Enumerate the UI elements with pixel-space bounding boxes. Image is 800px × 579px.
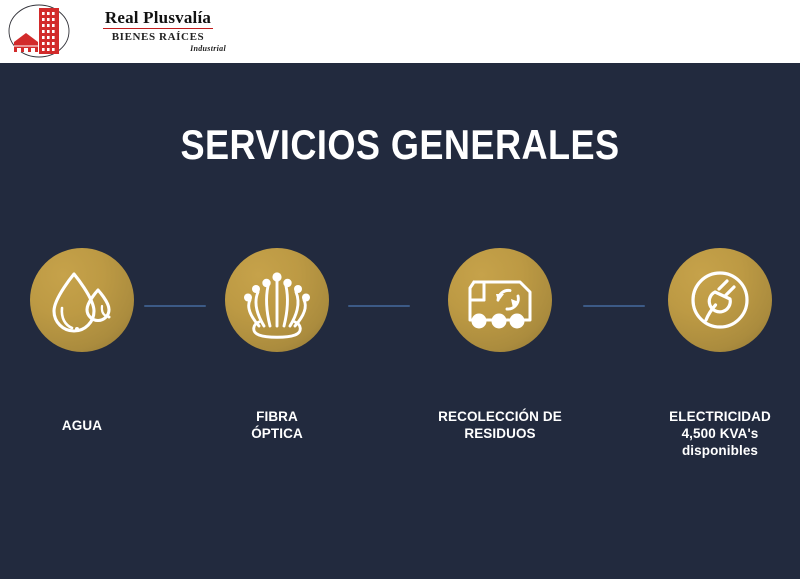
slide-root: Real Plusvalía BIENES RAÍCES Industrial … bbox=[0, 0, 800, 579]
services-row bbox=[0, 248, 800, 368]
connector-line-1 bbox=[144, 305, 206, 307]
service-item-fibra-optica[interactable] bbox=[225, 248, 329, 352]
connector-line-3 bbox=[583, 305, 645, 307]
service-label-electricidad: ELECTRICIDAD 4,500 KVA's disponibles bbox=[630, 408, 800, 459]
logo-subtitle: BIENES RAÍCES bbox=[68, 30, 248, 44]
service-circle bbox=[30, 248, 134, 352]
logo-company-name: Real Plusvalía bbox=[103, 8, 213, 29]
building-logo-icon bbox=[8, 2, 70, 60]
service-circle bbox=[448, 248, 552, 352]
fiber-optic-icon bbox=[225, 248, 329, 352]
power-plug-icon bbox=[668, 248, 772, 352]
service-circle bbox=[225, 248, 329, 352]
logo-tagline: Industrial bbox=[68, 44, 248, 54]
service-label-recoleccion-de-residuos: RECOLECCIÓN DE RESIDUOS bbox=[400, 408, 600, 442]
connector-line-2 bbox=[348, 305, 410, 307]
service-item-recoleccion-de-residuos[interactable] bbox=[448, 248, 552, 352]
service-item-electricidad[interactable] bbox=[668, 248, 772, 352]
page-title: SERVICIOS GENERALES bbox=[56, 121, 744, 169]
service-item-agua[interactable] bbox=[30, 248, 134, 352]
service-label-fibra-optica: FIBRA ÓPTICA bbox=[197, 408, 357, 442]
water-drop-icon bbox=[30, 248, 134, 352]
recycling-truck-icon bbox=[448, 248, 552, 352]
logo-wordmark: Real Plusvalía BIENES RAÍCES Industrial bbox=[68, 8, 248, 54]
company-logo[interactable]: Real Plusvalía BIENES RAÍCES Industrial bbox=[8, 2, 248, 62]
service-circle bbox=[668, 248, 772, 352]
header-bar: Real Plusvalía BIENES RAÍCES Industrial bbox=[0, 0, 800, 63]
service-label-agua: AGUA bbox=[2, 417, 162, 434]
